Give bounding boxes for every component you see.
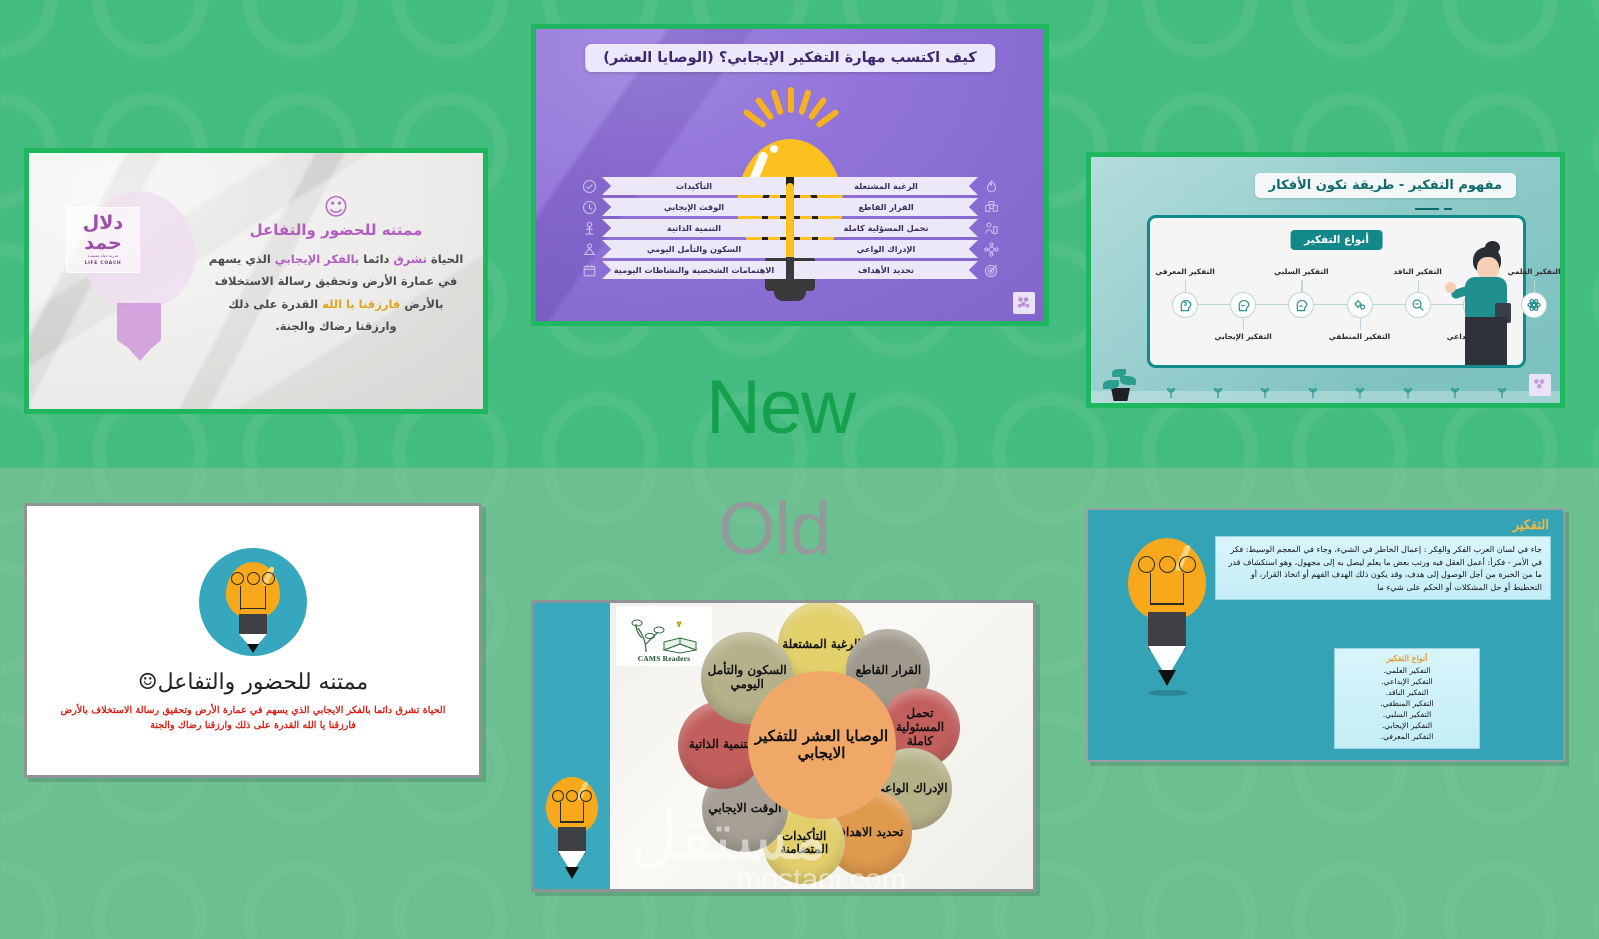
sprout-icon <box>1213 383 1223 397</box>
body-span: بالفكر الإيجابي <box>271 252 359 266</box>
decision-icon <box>983 199 999 215</box>
slide-background: CAMS Readers الوصايا العشر للتفكير الايج… <box>534 603 1033 889</box>
thank-you-headline: ممتنه للحضور والتفاعل <box>207 221 465 239</box>
sprout-icon <box>1308 383 1318 397</box>
brand-badge-icon <box>1013 292 1035 314</box>
label-new: New <box>706 370 855 446</box>
sprout-icon <box>1497 383 1507 397</box>
timeline-label: التفكير السلبي <box>1274 267 1328 276</box>
commandments-left-column: التأكيداتالوقت الإيجابيالتنمية الذاتيةال… <box>581 177 786 279</box>
type-item: التفكير السلبي. <box>1341 709 1473 720</box>
timeline-label: التفكير الإيجابي <box>1215 332 1272 341</box>
timeline-node-7[interactable] <box>1172 292 1198 318</box>
logo-arabic-bottom: حمد <box>84 234 121 252</box>
brand-badge-icon <box>1529 374 1551 396</box>
bulb-ray <box>770 89 784 116</box>
commandments-right-column: الرغبة المشتعلةالقرار القاطعتحمل المسؤلي… <box>794 177 999 279</box>
responsibility-icon <box>983 220 999 236</box>
body-span: الحياة <box>427 252 463 266</box>
magnifier-icon <box>1411 298 1425 312</box>
sprout-icon <box>1166 383 1176 397</box>
timeline-stem <box>1185 280 1186 292</box>
timeline-label: التفكير المعرفي <box>1155 267 1214 276</box>
timeline-node-3[interactable] <box>1405 292 1431 318</box>
commandment-row[interactable]: تحمل المسؤلية كاملة <box>794 219 999 237</box>
timeline-stem <box>1243 318 1244 330</box>
growth-icon <box>581 220 597 236</box>
timeline-node-1[interactable] <box>1521 292 1547 318</box>
slide-thinking-concept-new[interactable]: مفهوم التفكير - طريقة تكون الأفكار أنواع… <box>1086 152 1565 408</box>
commandment-row[interactable]: الاهتمامات الشخصية والنشاطات اليومية <box>581 261 786 279</box>
smiley-icon: ☺ <box>207 195 465 219</box>
logo-arabic-top: دلال <box>83 214 123 232</box>
commandment-row[interactable]: القرار القاطع <box>794 198 999 216</box>
types-list: التفكير العلمي.التفكير الإبداعي.التفكير … <box>1341 665 1473 742</box>
slide-background: ممتنه للحضور والتفاعل☺ الحياة تشرق دائما… <box>27 506 479 775</box>
clock-icon <box>581 199 597 215</box>
sprout-icon <box>1403 383 1413 397</box>
title-underline <box>1415 208 1452 210</box>
slide-ten-commandments-old[interactable]: CAMS Readers الوصايا العشر للتفكير الايج… <box>531 600 1036 892</box>
awareness-icon <box>983 241 999 257</box>
page-title: التفكير <box>1513 518 1549 533</box>
thank-you-text-block: ☺ ممتنه للحضور والتفاعل الحياة تشرق دائم… <box>207 195 465 338</box>
timeline-node-4[interactable] <box>1347 292 1373 318</box>
slide-thinking-definition-old[interactable]: التفكير جاء في لسان العرب الفكر والفِكر … <box>1086 508 1565 762</box>
definition-box: جاء في لسان العرب الفكر والفِكر : إعمال … <box>1215 536 1551 600</box>
type-item: التفكير الناقد. <box>1341 687 1473 698</box>
commandment-row[interactable]: الإدراك الواعي <box>794 240 999 258</box>
page-title: مفهوم التفكير - طريقة تكون الأفكار <box>1255 173 1516 198</box>
label-old: Old <box>718 492 830 566</box>
timeline-label: التفكير الناقد <box>1393 267 1441 276</box>
slide-thank-you-new[interactable]: دلال حمد مدربة حياة معتمدة LIFE COACH ☺ … <box>24 148 488 414</box>
lightbulb-pencil-icon <box>1124 538 1210 706</box>
atom-icon <box>1527 298 1541 312</box>
timeline-stem <box>1418 280 1419 292</box>
logo-latin: LIFE COACH <box>85 261 122 266</box>
commandment-label: الوقت الإيجابي <box>602 198 786 216</box>
bulb-ray <box>788 87 794 113</box>
commandment-label: التأكيدات <box>602 177 786 195</box>
meditation-icon <box>581 241 597 257</box>
board-pill-label: أنواع التفكير <box>1290 230 1383 250</box>
type-item: التفكير العلمي. <box>1341 665 1473 676</box>
slide-background: مفهوم التفكير - طريقة تكون الأفكار أنواع… <box>1091 157 1560 403</box>
type-item: التفكير الإيجابي. <box>1341 720 1473 731</box>
commandment-row[interactable]: السكون والتأمل اليومي <box>581 240 786 258</box>
slide-thank-you-old[interactable]: ممتنه للحضور والتفاعل☺ الحياة تشرق دائما… <box>24 503 482 778</box>
thank-you-headline: ممتنه للحضور والتفاعل☺ <box>138 670 368 695</box>
commandment-row[interactable]: الوقت الإيجابي <box>581 198 786 216</box>
commandment-label: التنمية الذاتية <box>602 219 786 237</box>
watermark-url: mostaqi.com <box>736 863 906 892</box>
timeline-stem <box>1301 280 1302 292</box>
timeline-node-6[interactable] <box>1230 292 1256 318</box>
sprout-icons <box>1147 383 1526 399</box>
commandment-label: الرغبة المشتعلة <box>794 177 978 195</box>
lightbulb-pencil-icon <box>199 548 307 656</box>
slide-background: كيف اكتسب مهارة التفكير الإيجابي؟ (الوصا… <box>536 29 1044 321</box>
slide-background: التفكير جاء في لسان العرب الفكر والفِكر … <box>1088 510 1563 760</box>
commandment-row[interactable]: التنمية الذاتية <box>581 219 786 237</box>
head-brain-icon <box>1178 298 1192 312</box>
commandment-row[interactable]: تحديد الأهداف <box>794 261 999 279</box>
type-item: التفكير المعرفي. <box>1341 731 1473 742</box>
plant-icon <box>1103 357 1137 401</box>
flame-icon <box>983 178 999 194</box>
timeline-stem <box>1360 318 1361 330</box>
brand-logo-dalal-hamad: دلال حمد مدربة حياة معتمدة LIFE COACH <box>66 207 140 273</box>
ten-commandments-flower-diagram: الوصايا العشر للتفكير الايجابي الرغبة ال… <box>676 609 968 891</box>
type-item: التفكير الإبداعي. <box>1341 676 1473 687</box>
commandment-label: القرار القاطع <box>794 198 978 216</box>
flower-center: الوصايا العشر للتفكير الايجابي <box>748 671 896 819</box>
head-sad-icon <box>1294 298 1308 312</box>
logo-sub-arabic: مدربة حياة معتمدة <box>88 254 119 258</box>
body-span: دائما <box>359 252 389 266</box>
teacher-illustration <box>1455 247 1517 365</box>
lightbulb-pencil-icon <box>542 777 602 892</box>
sprout-icon <box>1260 383 1270 397</box>
body-span: تشرق <box>389 252 426 266</box>
commandment-label: السكون والتأمل اليومي <box>602 240 786 258</box>
diagram-area: CAMS Readers الوصايا العشر للتفكير الايج… <box>610 603 1033 889</box>
commandment-label: تحمل المسؤلية كاملة <box>794 219 978 237</box>
timeline-label: التفكير المنطقي <box>1329 332 1390 341</box>
body-span: فارزقنا يا الله <box>318 297 400 311</box>
bulb-ray <box>798 89 812 116</box>
gears-icon <box>1353 298 1367 312</box>
thank-you-body: الحياة تشرق دائما بالفكر الايجابي الذي ي… <box>49 703 456 734</box>
page-title: كيف اكتسب مهارة التفكير الإيجابي؟ (الوصا… <box>585 44 995 72</box>
check-circle-icon <box>581 178 597 194</box>
type-item: التفكير المنطقي. <box>1341 698 1473 709</box>
slide-background: دلال حمد مدربة حياة معتمدة LIFE COACH ☺ … <box>29 153 483 409</box>
teal-side-strip <box>534 603 610 889</box>
timeline-stem <box>1534 280 1535 292</box>
target-icon <box>983 262 999 278</box>
commandment-row[interactable]: الرغبة المشتعلة <box>794 177 999 195</box>
sprout-icon <box>1450 383 1460 397</box>
timeline-node-5[interactable] <box>1288 292 1314 318</box>
commandment-label: تحديد الأهداف <box>794 261 978 279</box>
calendar-icon <box>581 262 597 278</box>
sprout-icon <box>1355 383 1365 397</box>
thinking-types-box: أنواع التفكير التفكير العلمي.التفكير الإ… <box>1334 648 1480 749</box>
commandment-label: الإدراك الواعي <box>794 240 978 258</box>
head-happy-icon <box>1236 298 1250 312</box>
commandment-row[interactable]: التأكيدات <box>581 177 786 195</box>
thank-you-body: الحياة تشرق دائما بالفكر الإيجابي الذي ي… <box>207 248 465 338</box>
whiteboard: أنواع التفكير التفكير العلميالتفكير الإب… <box>1147 215 1526 368</box>
commandment-label: الاهتمامات الشخصية والنشاطات اليومية <box>602 261 786 279</box>
types-title: أنواع التفكير <box>1341 653 1473 663</box>
slide-ten-commandments-new[interactable]: كيف اكتسب مهارة التفكير الإيجابي؟ (الوصا… <box>531 24 1049 326</box>
